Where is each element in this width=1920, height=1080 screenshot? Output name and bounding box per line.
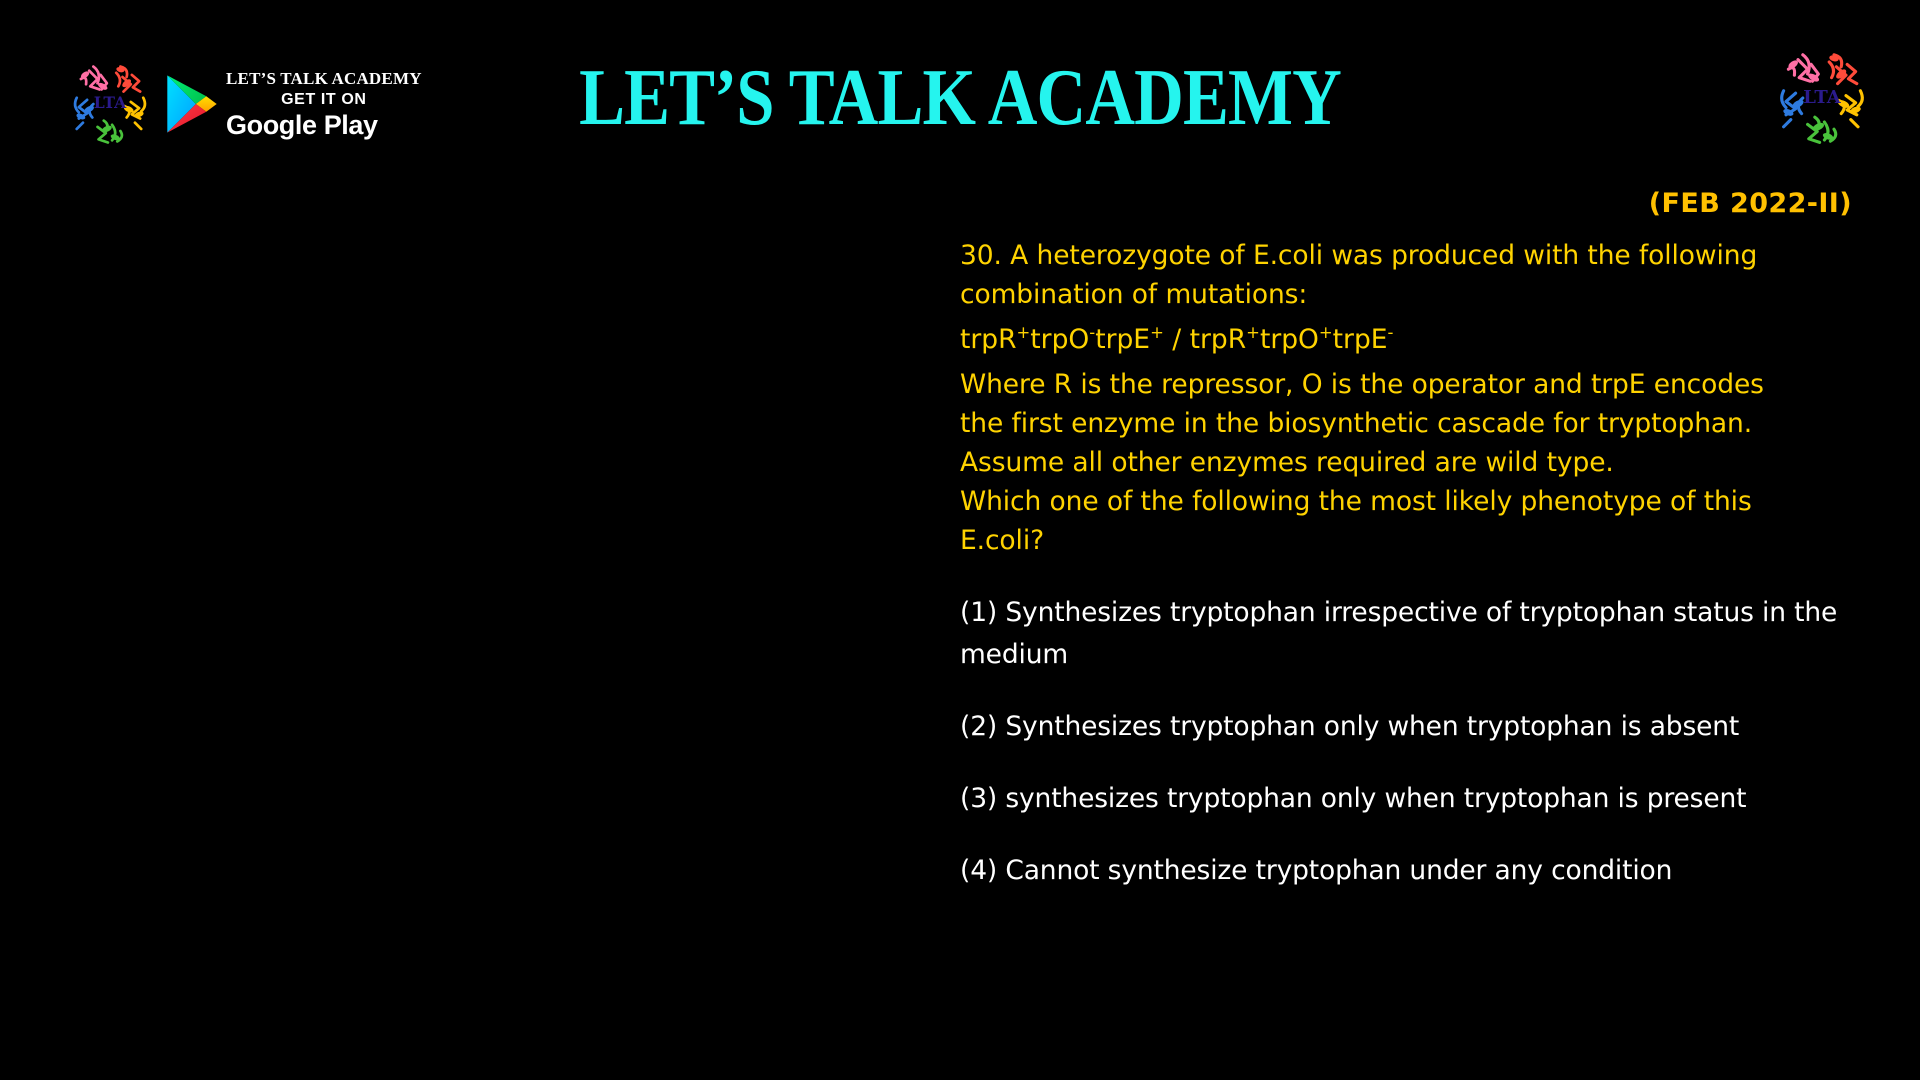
svg-text:LTA: LTA: [94, 93, 127, 112]
answer-options-list: (1) Synthesizes tryptophan irrespective …: [960, 592, 1858, 892]
question-ask-line-2: E.coli?: [960, 521, 1858, 560]
question-explain-line-2: the first enzyme in the biosynthetic cas…: [960, 404, 1858, 443]
genotype-allele2-r-sign: +: [1246, 323, 1260, 342]
question-explain-line-1: Where R is the repressor, O is the opera…: [960, 365, 1858, 404]
genotype-allele1-e: trpE: [1095, 324, 1150, 355]
genotype-notation: trpR+trpO-trpE+ / trpR+trpO+trpE-: [960, 320, 1858, 359]
genotype-allele2-o-sign: +: [1319, 323, 1333, 342]
genotype-allele1-o: trpO: [1030, 324, 1089, 355]
genotype-allele2-e: trpE: [1333, 324, 1388, 355]
answer-option-3[interactable]: (3) synthesizes tryptophan only when try…: [960, 778, 1858, 820]
genotype-allele2-r: trpR: [1190, 324, 1247, 355]
slide-root: { "header": { "title": "LET’S TALK ACADE…: [0, 0, 1920, 1080]
genotype-allele2-o: trpO: [1260, 324, 1319, 355]
svg-text:LTA: LTA: [1803, 87, 1842, 108]
question-block: 30. A heterozygote of E.coli was produce…: [960, 236, 1858, 560]
question-ask-line-1: Which one of the following the most like…: [960, 482, 1858, 521]
answer-option-4[interactable]: (4) Cannot synthesize tryptophan under a…: [960, 850, 1858, 892]
genotype-allele2-e-sign: -: [1388, 323, 1394, 342]
question-stem-line-2: combination of mutations:: [960, 275, 1858, 314]
slide-header: LTA LET’S TALK: [0, 0, 1920, 180]
question-stem-line-1: 30. A heterozygote of E.coli was produce…: [960, 236, 1858, 275]
answer-option-2[interactable]: (2) Synthesizes tryptophan only when try…: [960, 706, 1858, 748]
genotype-allele1-r: trpR: [960, 324, 1017, 355]
genotype-allele1-r-sign: +: [1017, 323, 1031, 342]
question-explain-line-3: Assume all other enzymes required are wi…: [960, 443, 1858, 482]
answer-option-1[interactable]: (1) Synthesizes tryptophan irrespective …: [960, 592, 1858, 676]
page-title: LET’S TALK ACADEMY: [134, 56, 1785, 140]
genotype-allele1-e-sign: +: [1150, 323, 1164, 342]
genotype-separator: /: [1172, 324, 1181, 355]
exam-session-badge: (FEB 2022-II): [1649, 188, 1852, 219]
lta-protein-logo-icon-right: LTA: [1762, 38, 1882, 158]
